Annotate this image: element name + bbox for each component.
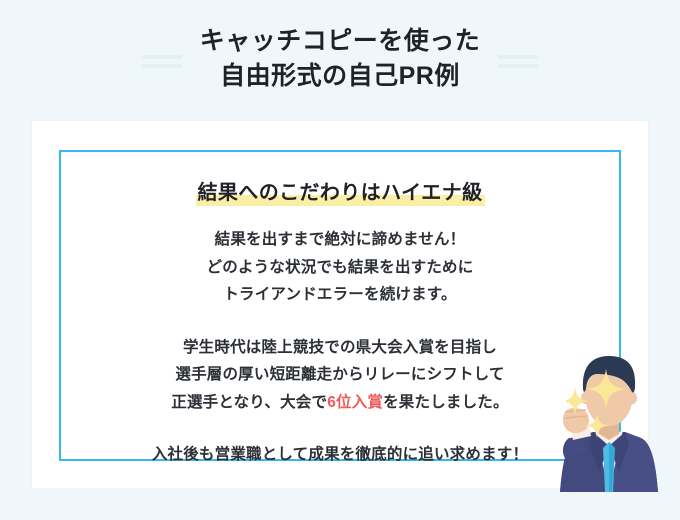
paragraph-1-line-3: トライアンドエラーを続けます。 (61, 281, 619, 309)
paragraph-3-line-1: 入社後も営業職として成果を徹底的に追い求めます！ (61, 441, 619, 469)
deco-rule (141, 64, 182, 68)
paragraph-2-line-1: 学生時代は陸上競技での県大会入賞を目指し (61, 334, 619, 362)
sparkle-icon-group (566, 367, 636, 447)
example-card-inner-box: 結果へのこだわりはハイエナ級 結果を出すまで絶対に諦めません！ どのような状況で… (59, 150, 621, 461)
deco-rule (141, 55, 182, 59)
deco-rule (498, 64, 539, 68)
paragraph-1-line-2: どのような状況でも結果を出すために (61, 254, 619, 282)
paragraph-2-line-3-after: を果たしました。 (383, 394, 509, 411)
paragraph-2: 学生時代は陸上競技での県大会入賞を目指し 選手層の厚い短距離走からリレーにシフト… (61, 334, 619, 417)
achievement-emphasis: 6位入賞 (327, 394, 383, 411)
catchphrase-headline: 結果へのこだわりはハイエナ級 (196, 183, 485, 204)
paragraph-1: 結果を出すまで絶対に諦めません！ どのような状況でも結果を出すために トライアン… (61, 226, 619, 309)
deco-rule (498, 55, 539, 59)
paragraph-3: 入社後も営業職として成果を徹底的に追い求めます！ (61, 441, 619, 469)
headline-text: 結果へのこだわりはハイエナ級 (198, 182, 483, 204)
page-title-line-2: 自由形式の自己PR例 (200, 59, 481, 95)
page-title-line-1: キャッチコピーを使った (200, 24, 481, 60)
paragraph-1-line-1: 結果を出すまで絶対に諦めません！ (61, 226, 619, 254)
title-decoration-right-icon (498, 55, 539, 68)
page-title: キャッチコピーを使った 自由形式の自己PR例 (200, 24, 481, 95)
page-header: キャッチコピーを使った 自由形式の自己PR例 (0, 0, 680, 118)
paragraph-2-line-3: 正選手となり、大会で6位入賞を果たしました。 (61, 389, 619, 417)
example-card-content: 結果へのこだわりはハイエナ級 結果を出すまで絶対に諦めません！ どのような状況で… (61, 152, 619, 459)
paragraph-2-line-2: 選手層の厚い短距離走からリレーにシフトして (61, 361, 619, 389)
paragraph-2-line-3-before: 正選手となり、大会で (171, 394, 327, 411)
title-decoration-left-icon (141, 55, 182, 68)
example-card: 結果へのこだわりはハイエナ級 結果を出すまで絶対に諦めません！ どのような状況で… (32, 121, 648, 488)
